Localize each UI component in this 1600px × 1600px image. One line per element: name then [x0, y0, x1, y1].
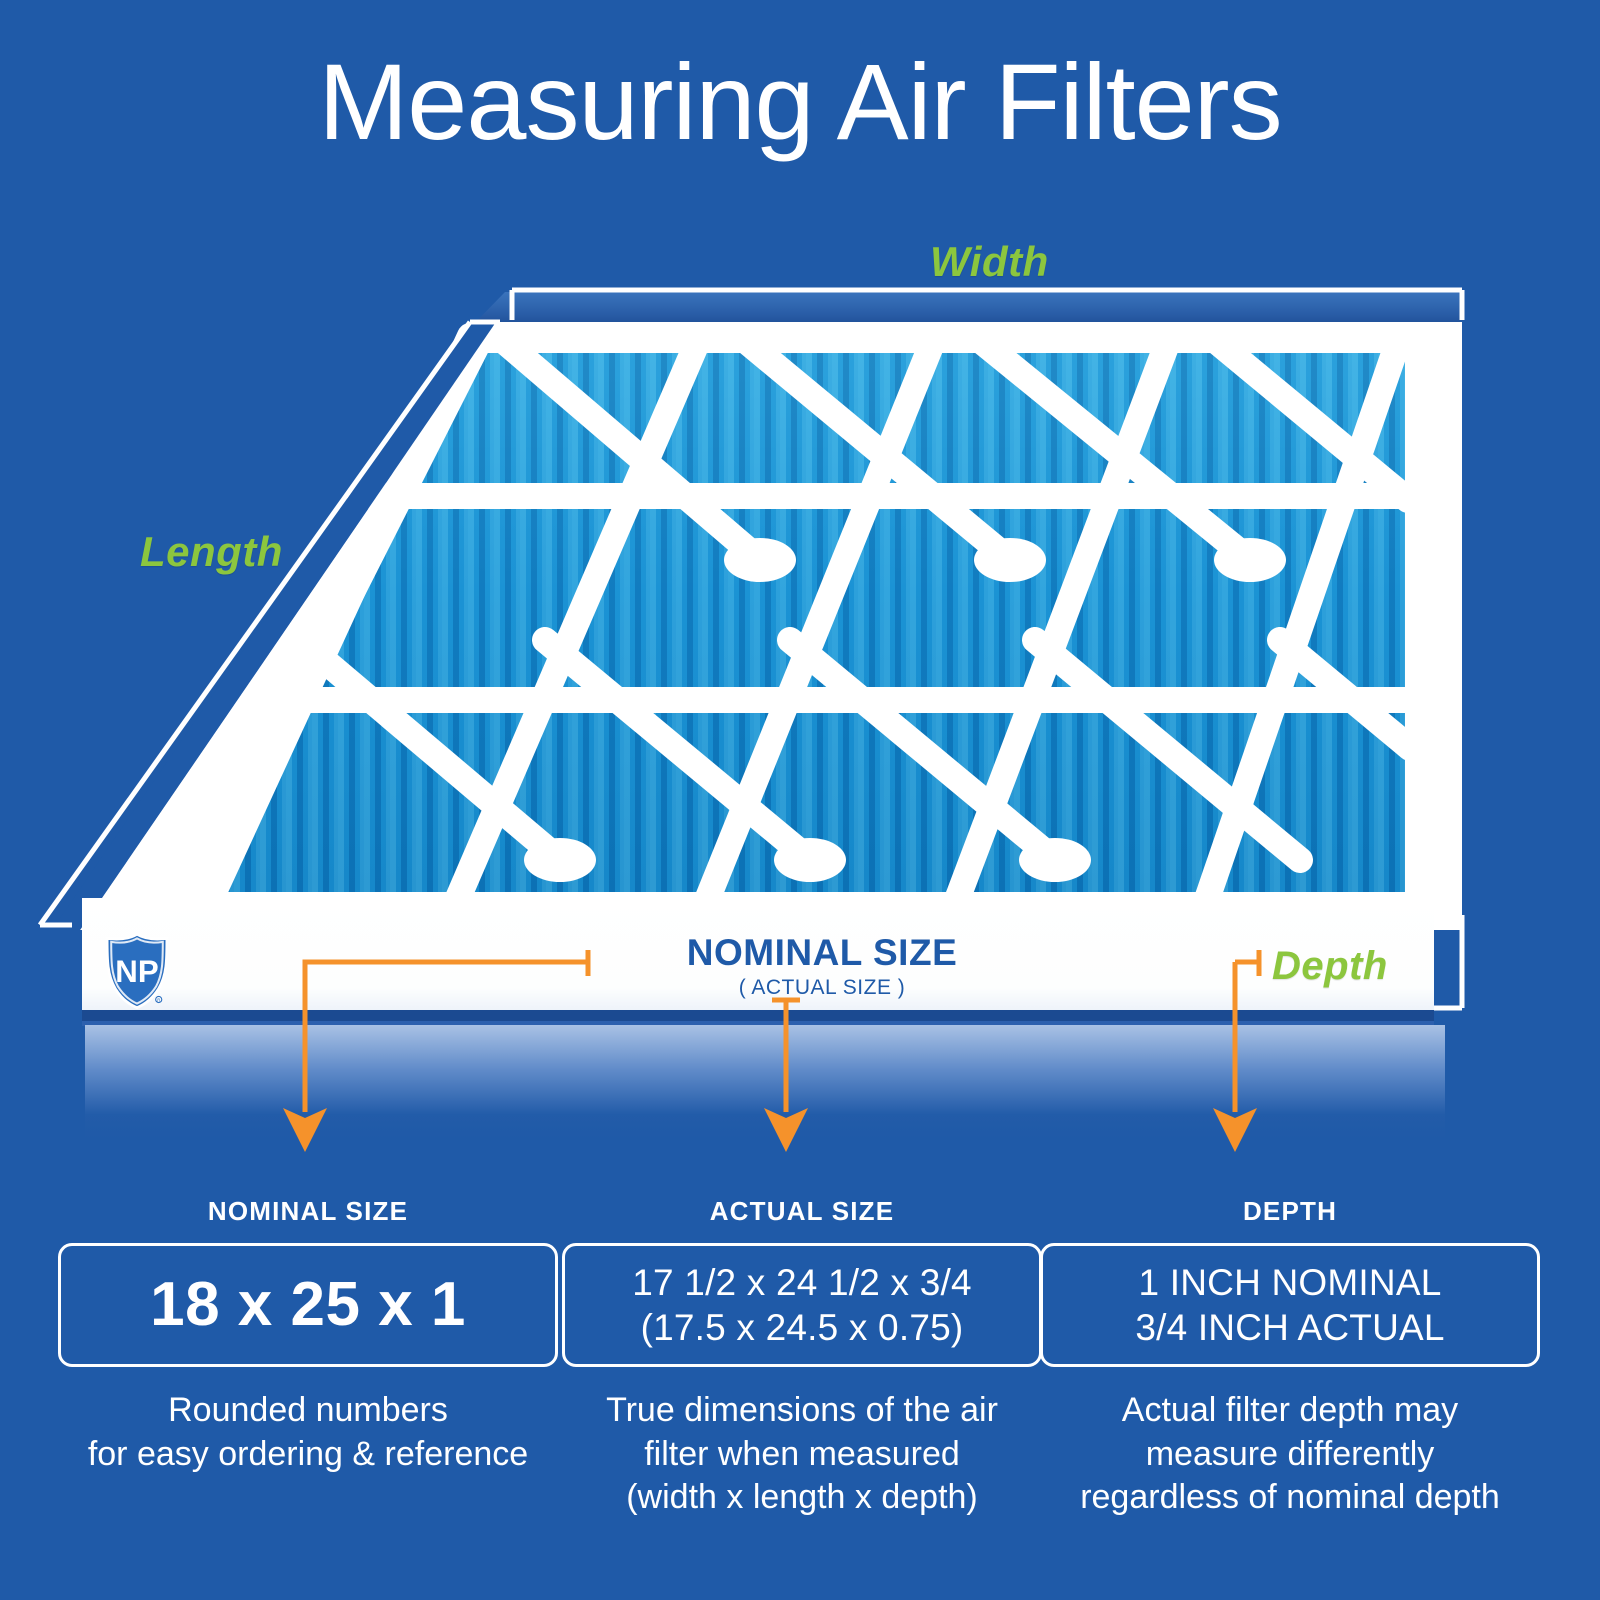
- card-actual-caption: True dimensions of the air filter when m…: [562, 1389, 1042, 1520]
- card-depth-box: 1 INCH NOMINAL 3/4 INCH ACTUAL: [1040, 1243, 1540, 1367]
- card-depth-caption-line: regardless of nominal depth: [1040, 1476, 1540, 1520]
- callout-leaders: [0, 0, 1600, 1200]
- card-depth: DEPTH 1 INCH NOMINAL 3/4 INCH ACTUAL Act…: [1040, 1196, 1540, 1520]
- card-actual-caption-line: (width x length x depth): [562, 1476, 1042, 1520]
- card-actual-title: ACTUAL SIZE: [562, 1196, 1042, 1227]
- card-nominal-title: NOMINAL SIZE: [58, 1196, 558, 1227]
- card-depth-caption-line: Actual filter depth may: [1040, 1389, 1540, 1433]
- info-cards: NOMINAL SIZE 18 x 25 x 1 Rounded numbers…: [0, 1196, 1600, 1600]
- infographic-canvas: Measuring Air Filters: [0, 0, 1600, 1600]
- card-nominal-size: NOMINAL SIZE 18 x 25 x 1 Rounded numbers…: [58, 1196, 558, 1476]
- card-nominal-caption-line: Rounded numbers: [58, 1389, 558, 1433]
- card-actual-caption-line: filter when measured: [562, 1433, 1042, 1477]
- card-nominal-caption-line: for easy ordering & reference: [58, 1433, 558, 1477]
- card-actual-value-1: 17 1/2 x 24 1/2 x 3/4: [632, 1260, 972, 1305]
- card-actual-value-2: (17.5 x 24.5 x 0.75): [641, 1305, 964, 1350]
- card-depth-value-1: 1 INCH NOMINAL: [1139, 1260, 1442, 1305]
- leader-nominal: [305, 962, 588, 1112]
- card-nominal-box: 18 x 25 x 1: [58, 1243, 558, 1367]
- card-actual-caption-line: True dimensions of the air: [562, 1389, 1042, 1433]
- card-actual-box: 17 1/2 x 24 1/2 x 3/4 (17.5 x 24.5 x 0.7…: [562, 1243, 1042, 1367]
- card-actual-size: ACTUAL SIZE 17 1/2 x 24 1/2 x 3/4 (17.5 …: [562, 1196, 1042, 1520]
- card-depth-caption: Actual filter depth may measure differen…: [1040, 1389, 1540, 1520]
- card-depth-value-2: 3/4 INCH ACTUAL: [1135, 1305, 1444, 1350]
- card-depth-caption-line: measure differently: [1040, 1433, 1540, 1477]
- card-nominal-value: 18 x 25 x 1: [150, 1272, 466, 1337]
- card-depth-title: DEPTH: [1040, 1196, 1540, 1227]
- leader-arrowheads: [283, 1108, 1257, 1152]
- card-nominal-caption: Rounded numbers for easy ordering & refe…: [58, 1389, 558, 1476]
